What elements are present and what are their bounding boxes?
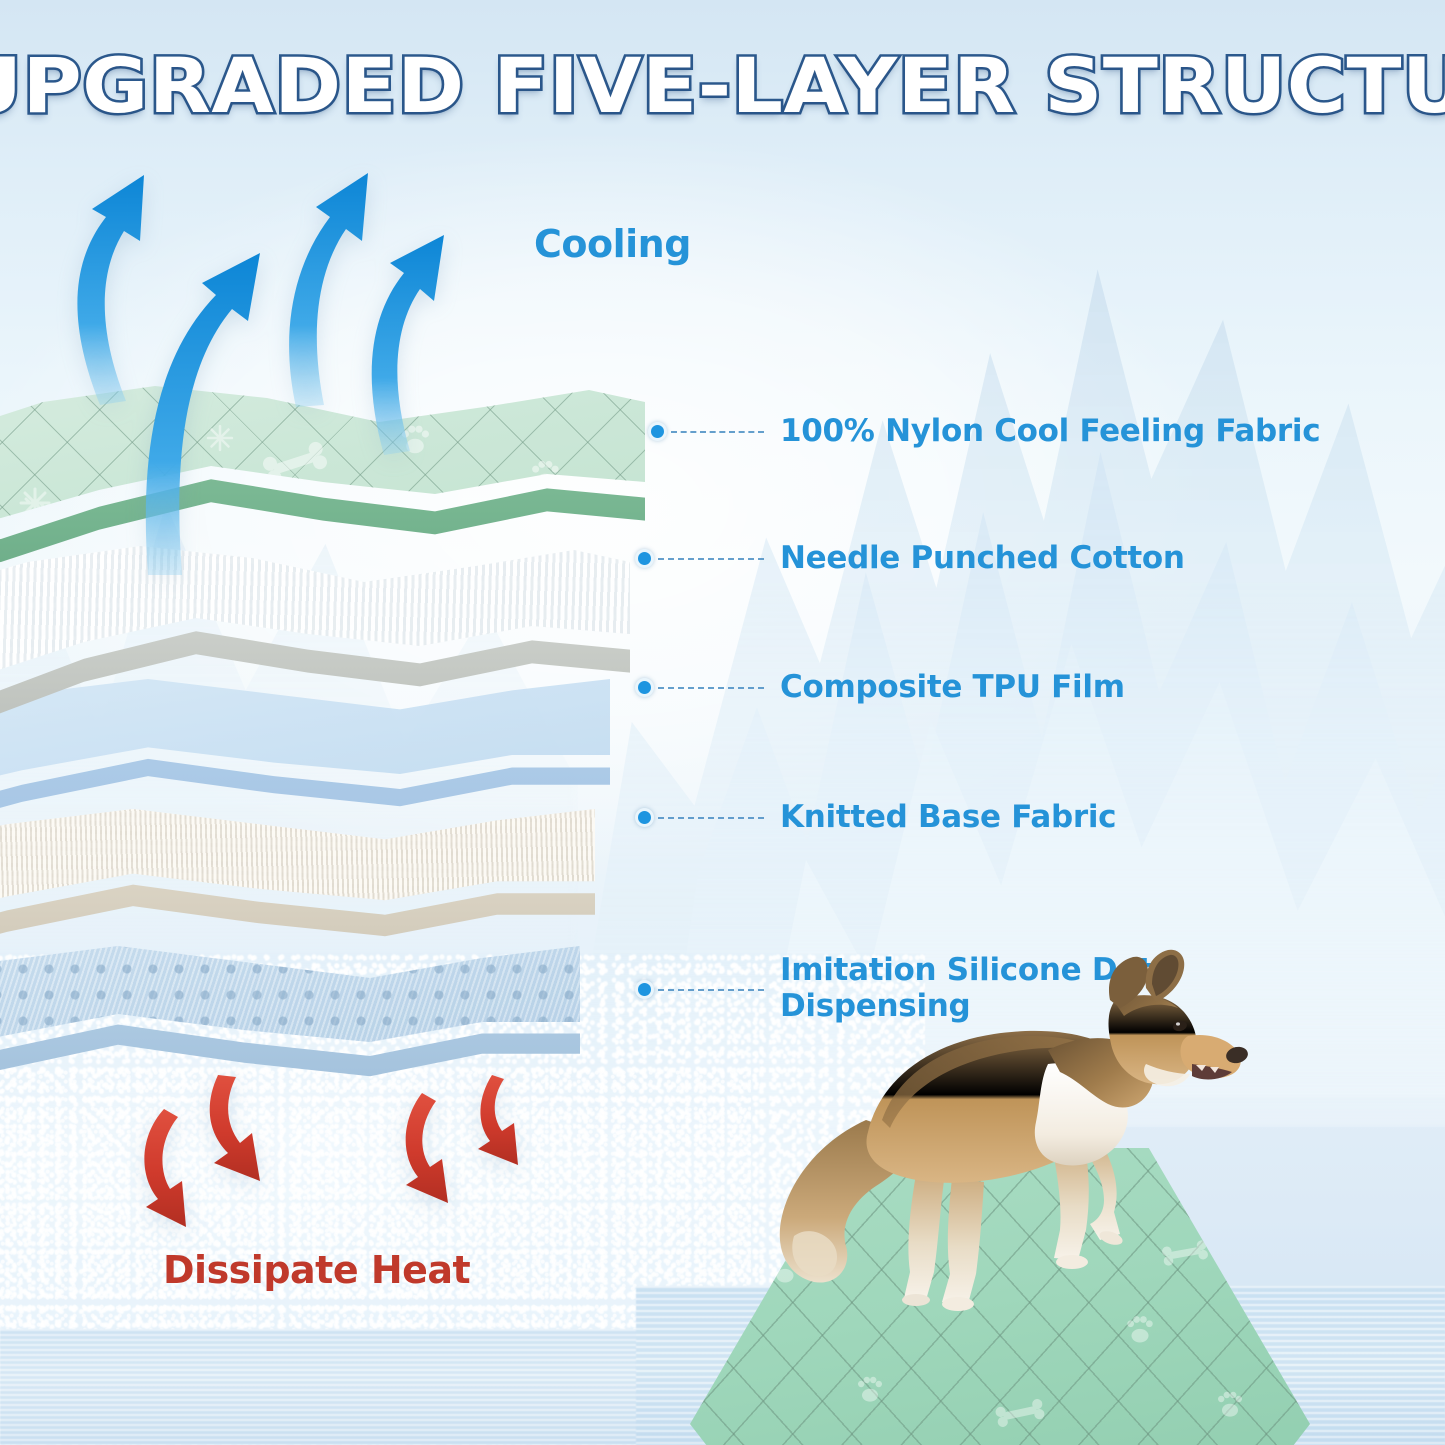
callout-label-layer-3: Composite TPU Film [780, 670, 1125, 706]
dog-paw-front [1056, 1255, 1088, 1269]
callout-label-layer-4: Knitted Base Fabric [780, 800, 1116, 836]
snowflake-paw-pattern [0, 378, 645, 578]
cooling-label: Cooling [534, 222, 691, 266]
infographic-canvas: UPGRADED FIVE-LAYER STRUCTURE [0, 0, 1445, 1445]
callout-dot-icon [635, 980, 654, 999]
layer-stack [0, 0, 720, 1180]
shetland-sheepdog [748, 924, 1268, 1344]
callout-dot-icon [635, 678, 654, 697]
dog-paw-rear-2 [902, 1294, 930, 1306]
callout-layer-2[interactable]: Needle Punched Cotton [635, 541, 1185, 577]
callout-dot-icon [648, 422, 667, 441]
dog-rear-leg-front [942, 1178, 984, 1304]
callout-layer-1[interactable]: 100% Nylon Cool Feeling Fabric [648, 414, 1320, 450]
product-photo [690, 1120, 1330, 1445]
dog-paw-rear [942, 1297, 974, 1311]
callout-dot-icon [635, 808, 654, 827]
callout-dash-line [658, 817, 764, 819]
callout-layer-4[interactable]: Knitted Base Fabric [635, 800, 1116, 836]
callout-dash-line [658, 558, 764, 560]
callout-layer-3[interactable]: Composite TPU Film [635, 670, 1125, 706]
callout-dash-line [671, 431, 764, 433]
callout-dot-icon [635, 549, 654, 568]
dissipate-heat-label: Dissipate Heat [163, 1248, 470, 1292]
dog-rear-leg-back [904, 1174, 944, 1300]
callout-label-layer-2: Needle Punched Cotton [780, 541, 1185, 577]
callout-label-layer-1: 100% Nylon Cool Feeling Fabric [780, 414, 1320, 450]
callout-dash-line [658, 687, 764, 689]
